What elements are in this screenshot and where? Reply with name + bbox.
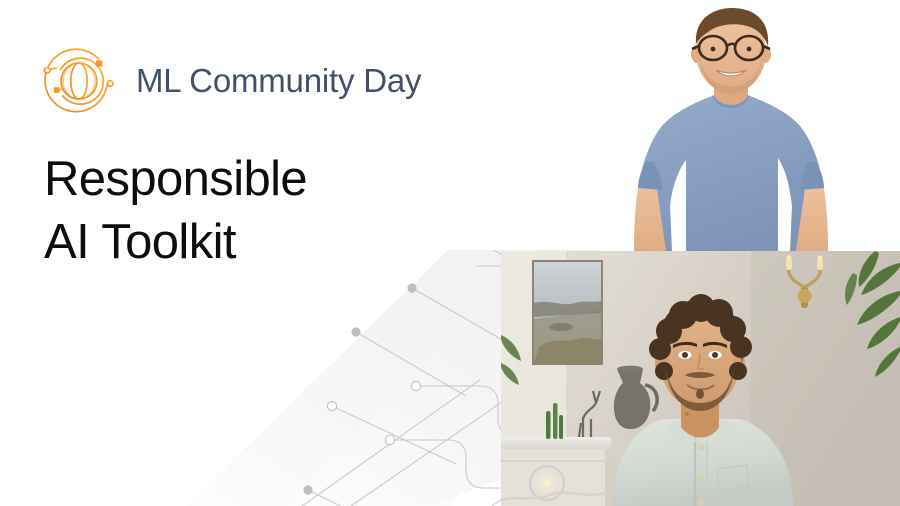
orbit-node-square: [54, 87, 60, 93]
speaker-video-tile[interactable]: [501, 251, 900, 506]
circuit-node-ring: [327, 401, 336, 410]
circuit-stub: [308, 490, 430, 506]
circuit-trace: [240, 380, 480, 506]
circuit-node-dot: [303, 485, 312, 494]
presenter-photo-cutout: [600, 0, 900, 251]
circuit-node-dot: [407, 283, 416, 292]
marble-mantelpiece: [501, 437, 611, 506]
slide-headline: Responsible AI Toolkit: [44, 148, 307, 274]
circuit-stub: [356, 332, 466, 396]
brand-lockup: ML Community Day: [38, 40, 421, 122]
circuit-node-ring: [411, 381, 420, 390]
presenter-eye: [747, 47, 752, 52]
presentation-slide: ML Community Day Responsible AI Toolkit: [0, 0, 900, 506]
orbit-node-ring: [107, 81, 113, 87]
brand-name: ML Community Day: [136, 62, 421, 100]
orbit-node-square: [96, 60, 103, 67]
globe-orbit-icon: [38, 40, 120, 122]
speaker-mole: [685, 412, 689, 416]
circuit-stub: [332, 406, 456, 464]
circuit-node-dot: [351, 327, 360, 336]
presenter-eye: [711, 47, 716, 52]
circuit-node-ring: [385, 435, 394, 444]
seascape-painting: [532, 260, 603, 365]
orbit-node-ring: [44, 68, 50, 74]
speaker-soul-patch: [696, 389, 704, 399]
